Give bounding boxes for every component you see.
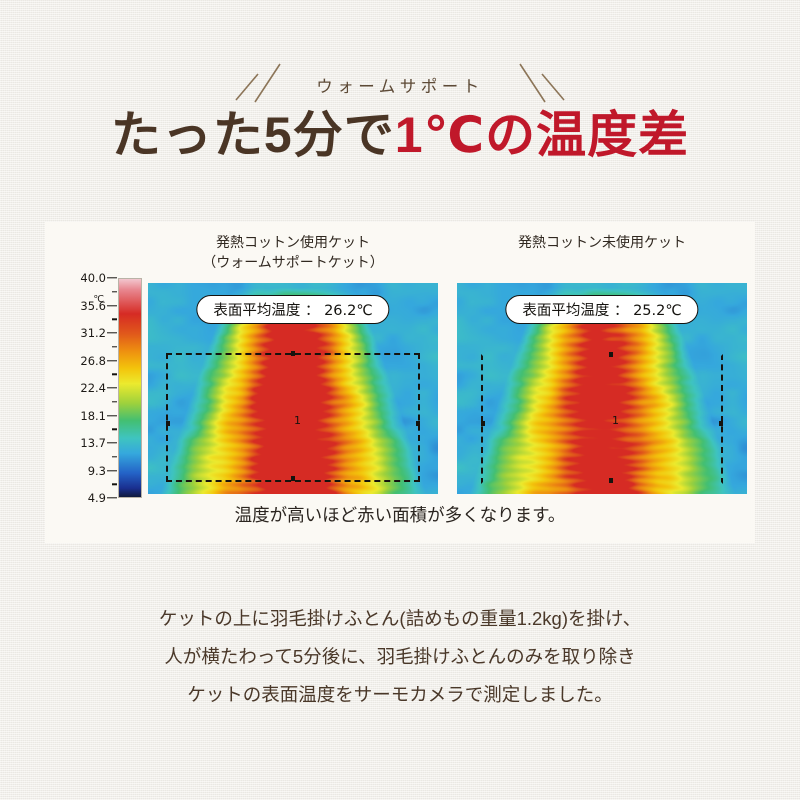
measurement-region-label-right: 1 (612, 414, 619, 427)
colorbar-label-40-0: 40.0 (80, 271, 106, 285)
measurement-node-right-left-panel (416, 421, 420, 426)
kicker-label: ウォームサポート (316, 73, 484, 97)
measurement-node-top-right-panel (609, 352, 613, 357)
colorbar-tick-minor (112, 456, 118, 457)
measurement-region-right (481, 354, 723, 484)
measurement-node-bottom-left-panel (291, 476, 295, 481)
headline-red-text: 1℃の温度差 (395, 107, 689, 163)
measurement-node-top-left-panel (291, 351, 295, 356)
colorbar-tick-minor (112, 429, 118, 430)
colorbar-tick-major (107, 497, 117, 498)
thermal-image-left: 1 表面平均温度 ： 26.2℃ (148, 283, 438, 494)
footer-line-1: ケットの上に羽毛掛けふとん(詰めもの重量1.2kg)を掛け、 (0, 600, 800, 638)
colorbar-label-13-7: 13.7 (80, 436, 106, 450)
temperature-colorbar-legend: ℃ 40.035.631.226.822.418.113.79.34.9 (60, 278, 148, 498)
colorbar-gradient (118, 278, 142, 498)
page-title: たった5分で1℃の温度差 (0, 107, 800, 165)
measurement-region-label-left: 1 (294, 414, 301, 427)
comparison-card: 発熱コットン使用ケット （ウォームサポートケット） 発熱コットン未使用ケット ℃… (45, 222, 755, 543)
colorbar-tick-minor (112, 401, 118, 402)
colorbar-label-9-3: 9.3 (88, 464, 106, 478)
colorbar-tick-minor (112, 319, 118, 320)
colorbar-tick-minor (112, 484, 118, 485)
colorbar-label-31-2: 31.2 (80, 326, 106, 340)
diagonal-strokes-right-icon (498, 62, 568, 108)
colorbar-tick-minor (112, 291, 118, 292)
colorbar-tick-major (107, 360, 117, 361)
headline-brown-text: たった5分で (111, 107, 395, 163)
colorbar-tick-major (107, 305, 117, 306)
panel-titles: 発熱コットン使用ケット （ウォームサポートケット） 発熱コットン未使用ケット (45, 232, 755, 284)
diagonal-strokes-left-icon (232, 62, 302, 108)
card-caption: 温度が高いほど赤い面積が多くなります。 (45, 502, 755, 527)
panel-title-left-line2: （ウォームサポートケット） (148, 252, 438, 272)
colorbar-label-26-8: 26.8 (80, 354, 106, 368)
colorbar-tick-major (107, 415, 117, 416)
colorbar-tick-major (107, 332, 117, 333)
colorbar-tick-minor (112, 346, 118, 347)
kicker-row: ウォームサポート (0, 62, 800, 108)
panel-title-left-line1: 発熱コットン使用ケット (148, 232, 438, 252)
measurement-node-bottom-right-panel (609, 478, 613, 483)
footer-line-2: 人が横たわって5分後に、羽毛掛けふとんのみを取り除き (0, 638, 800, 676)
colorbar-labels: ℃ 40.035.631.226.822.418.113.79.34.9 (60, 278, 106, 498)
colorbar-tick-major (107, 387, 117, 388)
colorbar-tick-major (107, 277, 117, 278)
colorbar-tick-major (107, 442, 117, 443)
panel-title-left: 発熱コットン使用ケット （ウォームサポートケット） (148, 232, 438, 273)
colorbar-label-22-4: 22.4 (80, 381, 106, 395)
colorbar-tick-major (107, 470, 117, 471)
footer-description: ケットの上に羽毛掛けふとん(詰めもの重量1.2kg)を掛け、 人が横たわって5分… (0, 600, 800, 714)
colorbar-label-35-6: 35.6 (80, 299, 106, 313)
average-temperature-badge-right: 表面平均温度 ： 25.2℃ (505, 295, 698, 324)
panel-title-right-line1: 発熱コットン未使用ケット (457, 232, 747, 252)
colorbar-ticks (107, 278, 117, 498)
colorbar-label-18-1: 18.1 (80, 409, 106, 423)
colorbar-tick-minor (112, 374, 118, 375)
measurement-region-left (166, 353, 420, 482)
panel-title-right: 発熱コットン未使用ケット (457, 232, 747, 252)
measurement-node-right-right-panel (719, 421, 723, 426)
measurement-node-left-right-panel (481, 421, 485, 426)
measurement-node-left-left-panel (166, 421, 170, 426)
thermal-image-right: 1 表面平均温度 ： 25.2℃ (457, 283, 747, 494)
footer-line-3: ケットの表面温度をサーモカメラで測定しました。 (0, 676, 800, 714)
average-temperature-badge-left: 表面平均温度 ： 26.2℃ (196, 295, 389, 324)
